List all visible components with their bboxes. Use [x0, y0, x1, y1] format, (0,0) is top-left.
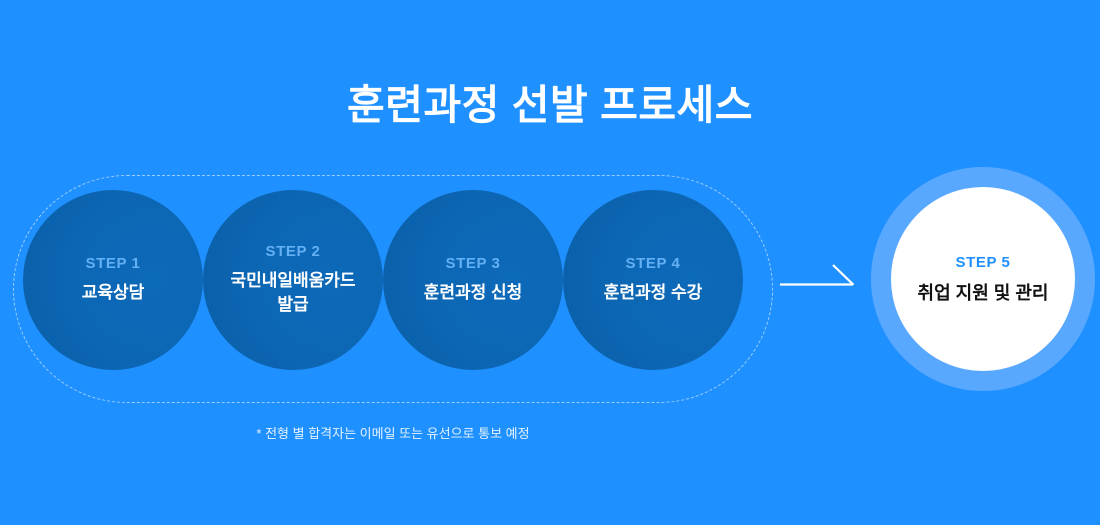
- step-4-number: STEP 4: [625, 255, 680, 272]
- step-1-label: 교육상담: [28, 281, 198, 305]
- step-1-number: STEP 1: [85, 255, 140, 272]
- step-3-number: STEP 3: [445, 255, 500, 272]
- step-2-number: STEP 2: [265, 243, 320, 260]
- step-2-label: 국민내일배움카드 발급: [208, 269, 378, 317]
- step-circle-2[interactable]: STEP 2 국민내일배움카드 발급: [203, 190, 383, 370]
- final-step-circle[interactable]: STEP 5 취업 지원 및 관리: [891, 187, 1075, 371]
- step-circle-3[interactable]: STEP 3 훈련과정 신청: [383, 190, 563, 370]
- step-4-label: 훈련과정 수강: [568, 281, 738, 305]
- arrow-right-icon: [778, 258, 860, 294]
- step-5-label: 취업 지원 및 관리: [918, 281, 1049, 305]
- step-5-number: STEP 5: [955, 254, 1010, 271]
- step-3-label: 훈련과정 신청: [388, 281, 558, 305]
- step-circle-4[interactable]: STEP 4 훈련과정 수강: [563, 190, 743, 370]
- step-circle-1[interactable]: STEP 1 교육상담: [23, 190, 203, 370]
- footnote-text: * 전형 별 합격자는 이메일 또는 유선으로 통보 예정: [13, 424, 773, 444]
- process-infographic: 훈련과정 선발 프로세스 STEP 1 교육상담 STEP 2 국민내일배움카드…: [0, 0, 1100, 525]
